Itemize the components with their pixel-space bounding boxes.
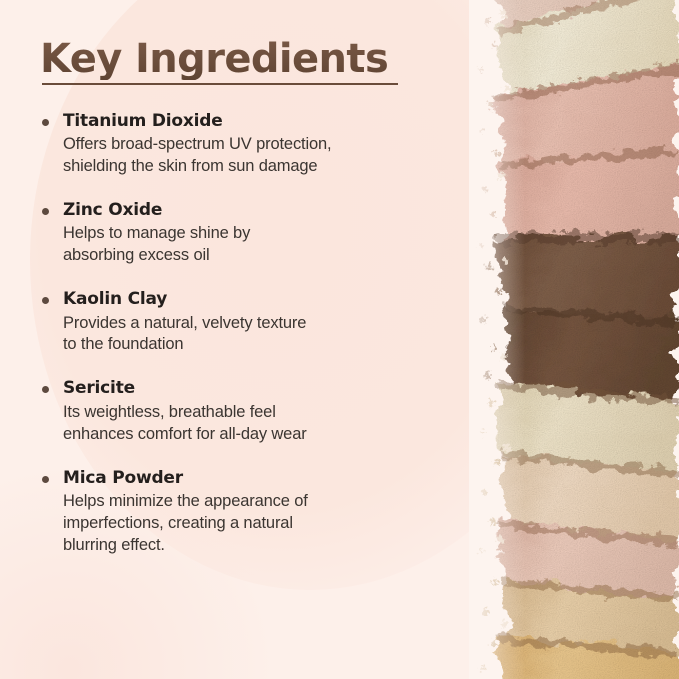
ingredient-description: Offers broad-spectrum UV protection, shi… <box>63 134 470 178</box>
ingredient-description: Its weightless, breathable feel enhances… <box>63 402 470 446</box>
content-column: Key Ingredients Titanium Dioxide Offers … <box>0 0 470 679</box>
bullet-dot-icon <box>42 119 49 126</box>
bullet-dot-icon <box>42 386 49 393</box>
bullet-dot-icon <box>42 297 49 304</box>
list-item: Titanium Dioxide Offers broad-spectrum U… <box>40 111 470 178</box>
bullet-dot-icon <box>42 476 49 483</box>
list-item: Sericite Its weightless, breathable feel… <box>40 378 470 445</box>
ingredient-description: Helps to manage shine by absorbing exces… <box>63 223 470 267</box>
ingredient-name: Mica Powder <box>63 468 470 489</box>
key-ingredients-infographic: Key Ingredients Titanium Dioxide Offers … <box>0 0 679 679</box>
ingredient-description: Provides a natural, velvety texture to t… <box>63 313 470 357</box>
bullet-dot-icon <box>42 208 49 215</box>
ingredient-name: Sericite <box>63 378 470 399</box>
ingredient-name: Kaolin Clay <box>63 289 470 310</box>
ingredient-name: Zinc Oxide <box>63 200 470 221</box>
page-title: Key Ingredients <box>40 0 388 80</box>
list-item: Mica Powder Helps minimize the appearanc… <box>40 468 470 557</box>
ingredient-name: Titanium Dioxide <box>63 111 470 132</box>
ingredient-list: Titanium Dioxide Offers broad-spectrum U… <box>40 85 470 557</box>
list-item: Zinc Oxide Helps to manage shine by abso… <box>40 200 470 267</box>
list-item: Kaolin Clay Provides a natural, velvety … <box>40 289 470 356</box>
ingredient-description: Helps minimize the appearance of imperfe… <box>63 491 470 557</box>
powder-swatch-photo <box>469 0 679 679</box>
